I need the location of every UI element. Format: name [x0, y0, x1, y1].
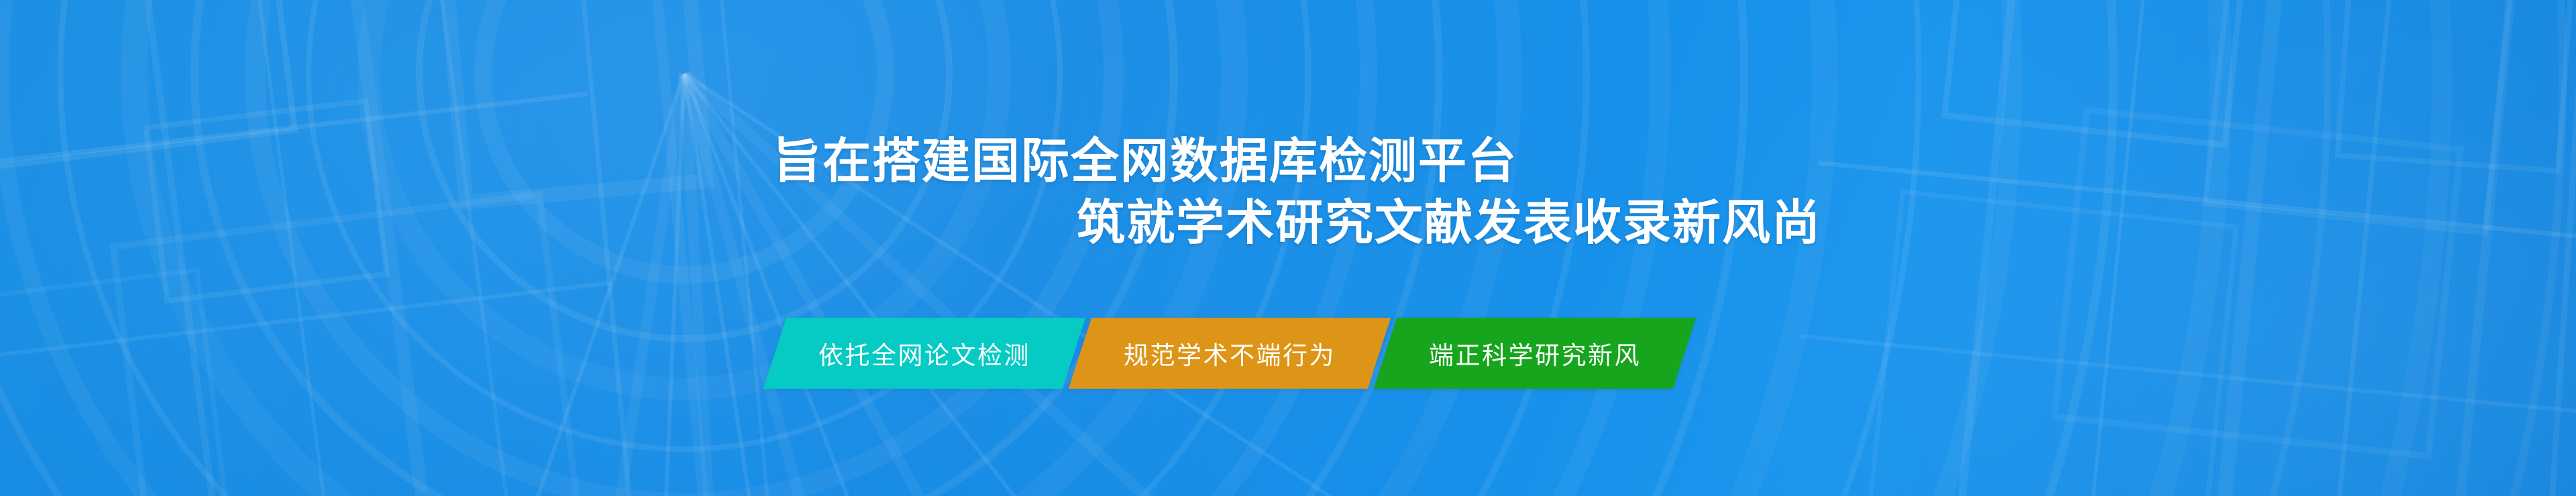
- feature-tag-label: 端正科学研究新风: [1429, 335, 1641, 371]
- feature-tag-strip: 依托全网论文检测 规范学术不端行为 端正科学研究新风: [775, 318, 1684, 389]
- headline-line-2: 筑就学术研究文献发表收录新风尚: [1077, 196, 1821, 251]
- headline-line-1: 旨在搭建国际全网数据库检测平台: [773, 134, 1517, 189]
- feature-tag-label: 规范学术不端行为: [1124, 335, 1336, 371]
- feature-tag-detection[interactable]: 依托全网论文检测: [763, 318, 1085, 389]
- feature-tag-misconduct[interactable]: 规范学术不端行为: [1069, 318, 1391, 389]
- promo-banner: 旨在搭建国际全网数据库检测平台 筑就学术研究文献发表收录新风尚 依托全网论文检测…: [0, 0, 2576, 496]
- feature-tag-label: 依托全网论文检测: [818, 335, 1030, 371]
- banner-content: 旨在搭建国际全网数据库检测平台 筑就学术研究文献发表收录新风尚 依托全网论文检测…: [0, 0, 2576, 496]
- feature-tag-integrity[interactable]: 端正科学研究新风: [1374, 318, 1696, 389]
